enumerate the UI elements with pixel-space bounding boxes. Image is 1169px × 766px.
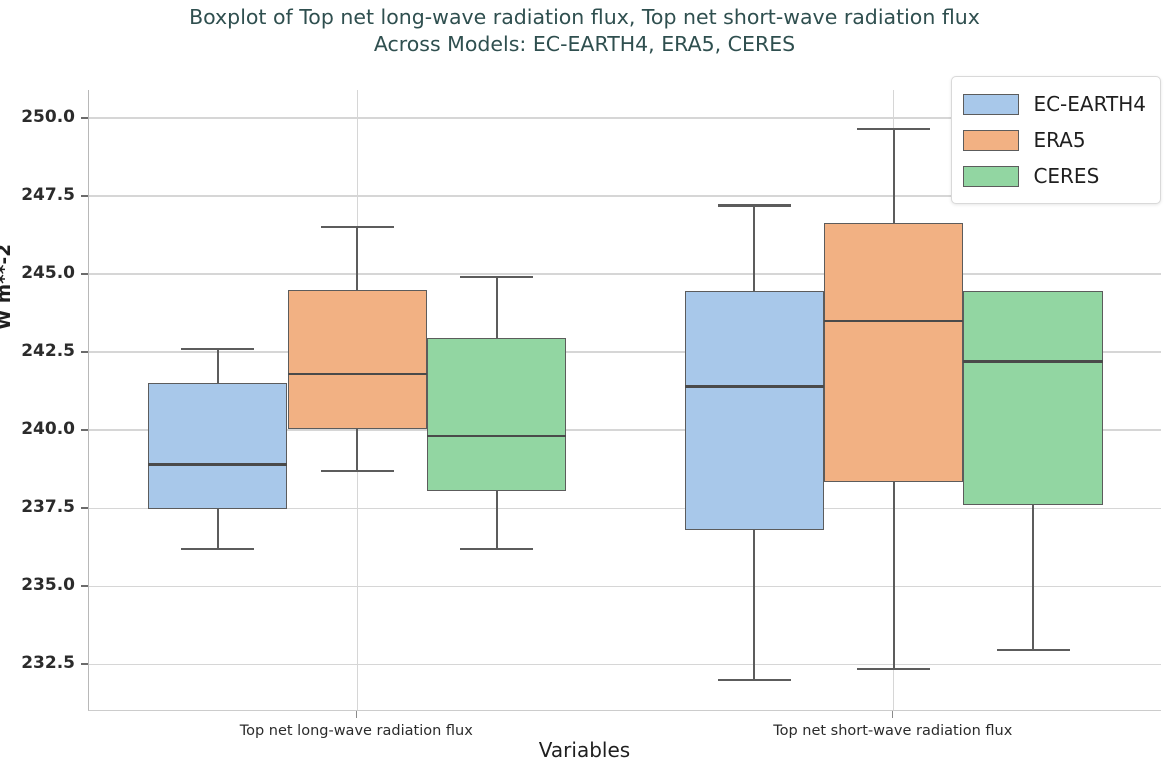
y-tick-mark	[81, 429, 88, 430]
y-tick-label: 240.0	[21, 419, 75, 439]
y-tick-mark	[81, 585, 88, 586]
y-tick-mark	[81, 195, 88, 196]
chart-title-line-2: Across Models: EC-EARTH4, ERA5, CERES	[0, 31, 1169, 58]
y-tick-mark	[81, 351, 88, 352]
box-rect[interactable]	[963, 291, 1102, 505]
y-tick-mark	[81, 117, 88, 118]
median-line	[963, 360, 1102, 362]
y-tick-label: 242.5	[21, 341, 75, 361]
x-tick-mark	[892, 711, 893, 718]
y-tick-label: 245.0	[21, 263, 75, 283]
legend-label: CERES	[1033, 164, 1099, 188]
legend-swatch	[963, 166, 1019, 187]
y-tick-mark	[81, 273, 88, 274]
y-tick-label: 250.0	[21, 107, 75, 127]
x-tick-label: Top net long-wave radiation flux	[156, 723, 556, 739]
x-tick-label: Top net short-wave radiation flux	[693, 723, 1093, 739]
whisker-lower	[1032, 505, 1034, 650]
y-tick-mark	[81, 663, 88, 664]
legend-label: EC-EARTH4	[1033, 92, 1146, 116]
y-tick-label: 232.5	[21, 653, 75, 673]
legend-swatch	[963, 94, 1019, 115]
y-tick-label: 235.0	[21, 575, 75, 595]
whisker-cap-lower	[997, 649, 1070, 651]
y-axis-label: W m**-2	[0, 244, 15, 330]
x-axis-label: Variables	[0, 738, 1169, 762]
legend[interactable]: EC-EARTH4ERA5CERES	[951, 76, 1161, 204]
y-tick-label: 237.5	[21, 497, 75, 517]
chart-title-line-1: Boxplot of Top net long-wave radiation f…	[0, 4, 1169, 31]
chart-root: Boxplot of Top net long-wave radiation f…	[0, 0, 1169, 766]
x-tick-mark	[356, 711, 357, 718]
legend-item[interactable]: CERES	[963, 158, 1146, 194]
y-tick-mark	[81, 507, 88, 508]
chart-title: Boxplot of Top net long-wave radiation f…	[0, 4, 1169, 58]
legend-label: ERA5	[1033, 128, 1085, 152]
y-tick-label: 247.5	[21, 185, 75, 205]
legend-item[interactable]: ERA5	[963, 122, 1146, 158]
legend-item[interactable]: EC-EARTH4	[963, 86, 1146, 122]
legend-swatch	[963, 130, 1019, 151]
